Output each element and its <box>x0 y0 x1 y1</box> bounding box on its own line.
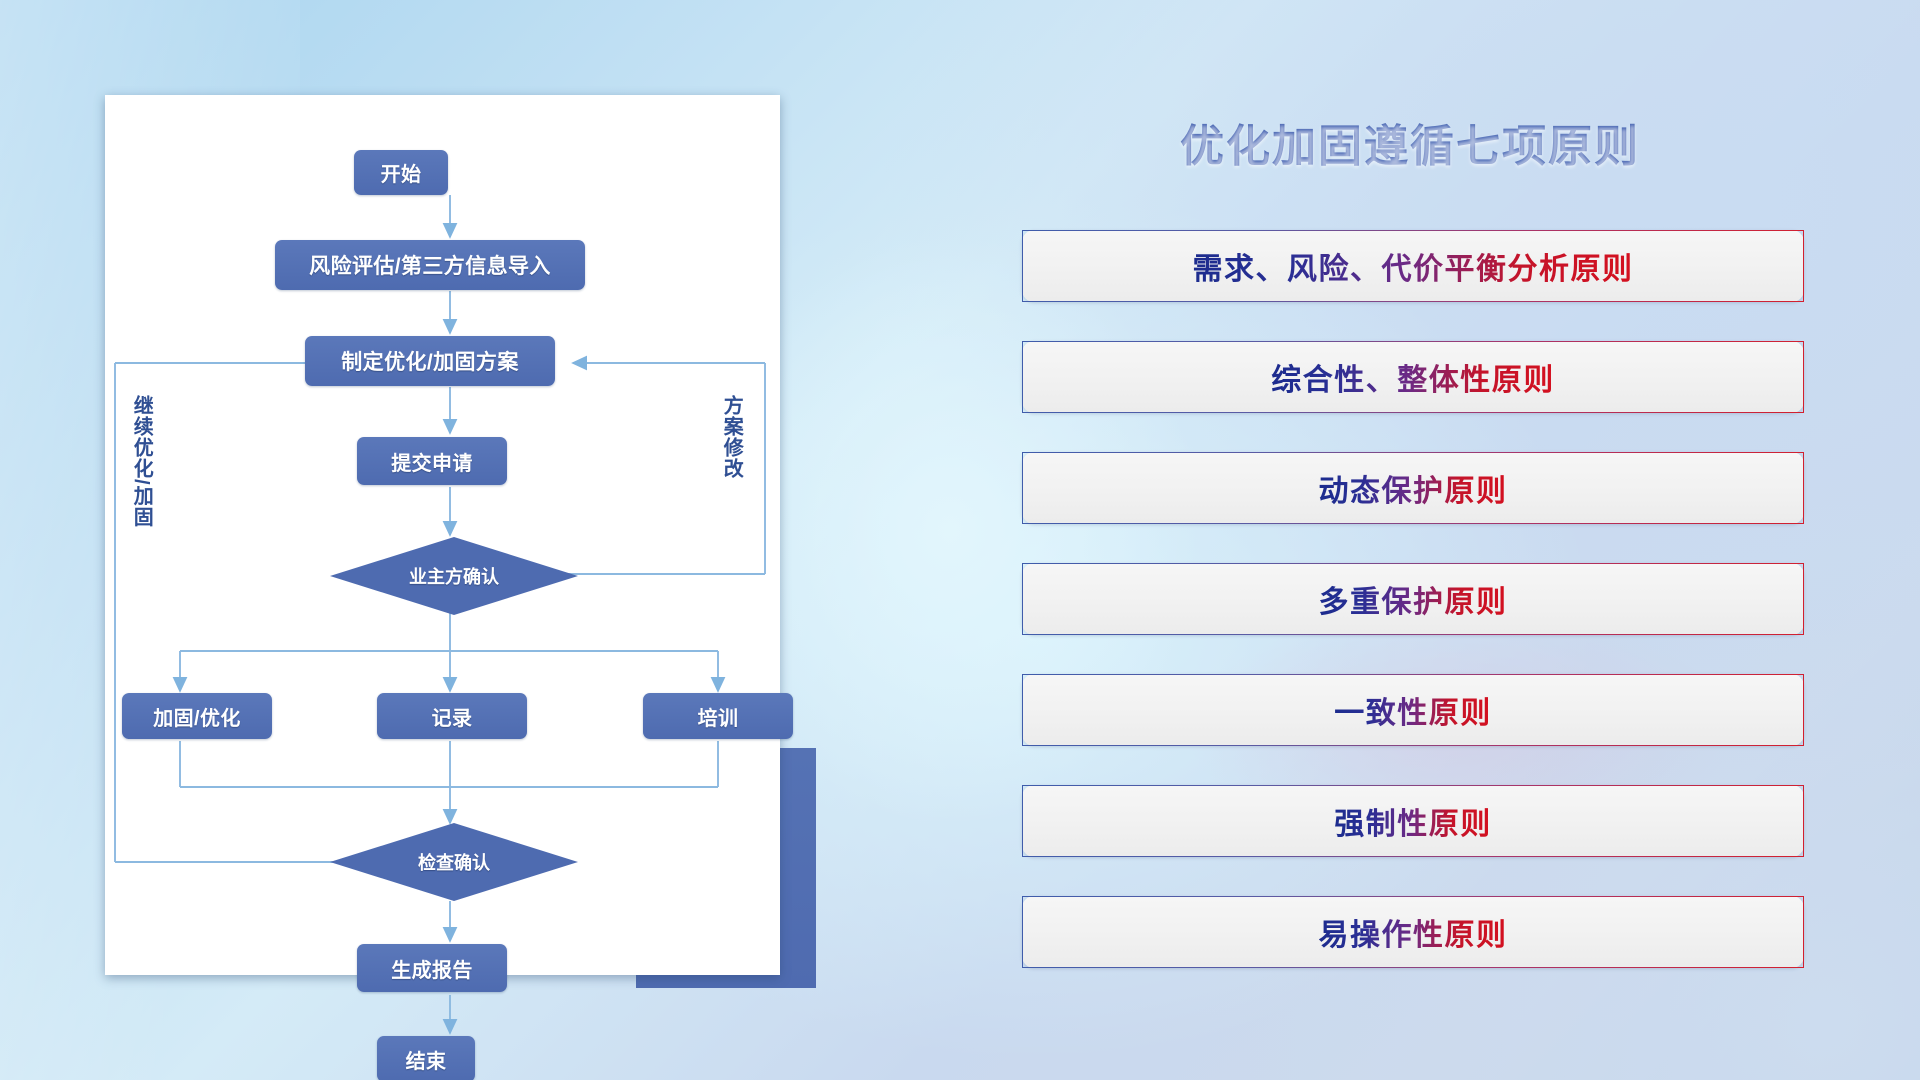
flow-node-end[interactable]: 结束 <box>377 1036 475 1080</box>
flow-node-label: 加固/优化 <box>153 702 241 731</box>
principle-label: 综合性、整体性原则 <box>1271 355 1555 399</box>
principle-item-4[interactable]: 多重保护原则 <box>1022 563 1804 635</box>
flow-node-start[interactable]: 开始 <box>354 150 448 195</box>
flow-node-submit[interactable]: 提交申请 <box>357 437 507 485</box>
principle-item-6[interactable]: 强制性原则 <box>1022 785 1804 857</box>
flow-node-training[interactable]: 培训 <box>643 693 793 739</box>
edge-label-plan-revision: 方案修改 <box>720 395 741 479</box>
principle-item-2[interactable]: 综合性、整体性原则 <box>1022 341 1804 413</box>
principle-label: 多重保护原则 <box>1319 577 1508 621</box>
flowchart-card: 开始 风险评估/第三方信息导入 制定优化/加固方案 提交申请 业主方确认 加固/… <box>105 95 780 975</box>
principle-label: 需求、风险、代价平衡分析原则 <box>1193 244 1634 288</box>
flow-node-label: 开始 <box>381 158 422 187</box>
flow-node-reinforce[interactable]: 加固/优化 <box>122 693 272 739</box>
flow-node-report[interactable]: 生成报告 <box>357 944 507 992</box>
principle-item-3[interactable]: 动态保护原则 <box>1022 452 1804 524</box>
principle-item-1[interactable]: 需求、风险、代价平衡分析原则 <box>1022 230 1804 302</box>
principle-item-7[interactable]: 易操作性原则 <box>1022 896 1804 968</box>
principles-panel: 优化加固遵循七项原则 需求、风险、代价平衡分析原则 综合性、整体性原则 动态保护… <box>1000 95 1820 995</box>
panel-title: 优化加固遵循七项原则 <box>1000 110 1820 174</box>
slide-root: 开始 风险评估/第三方信息导入 制定优化/加固方案 提交申请 业主方确认 加固/… <box>0 0 1920 1080</box>
flow-node-label: 风险评估/第三方信息导入 <box>309 250 551 280</box>
flow-node-label: 结束 <box>406 1045 447 1074</box>
flow-node-label: 业主方确认 <box>409 563 499 589</box>
principle-label: 动态保护原则 <box>1319 466 1508 510</box>
flow-node-label: 提交申请 <box>391 447 473 476</box>
flow-node-label: 检查确认 <box>418 849 490 875</box>
flow-node-risk-assessment[interactable]: 风险评估/第三方信息导入 <box>275 240 585 290</box>
principle-item-5[interactable]: 一致性原则 <box>1022 674 1804 746</box>
flow-node-label: 培训 <box>698 702 739 731</box>
flow-node-label: 记录 <box>432 702 473 731</box>
edge-label-continue-optimize: 继续优化/加固 <box>130 395 151 528</box>
flow-node-plan[interactable]: 制定优化/加固方案 <box>305 336 555 386</box>
flow-node-label: 制定优化/加固方案 <box>341 346 518 376</box>
principle-label: 强制性原则 <box>1334 799 1492 843</box>
principle-label: 易操作性原则 <box>1319 910 1508 954</box>
principle-label: 一致性原则 <box>1334 688 1492 732</box>
flow-node-record[interactable]: 记录 <box>377 693 527 739</box>
flow-node-label: 生成报告 <box>391 954 473 983</box>
